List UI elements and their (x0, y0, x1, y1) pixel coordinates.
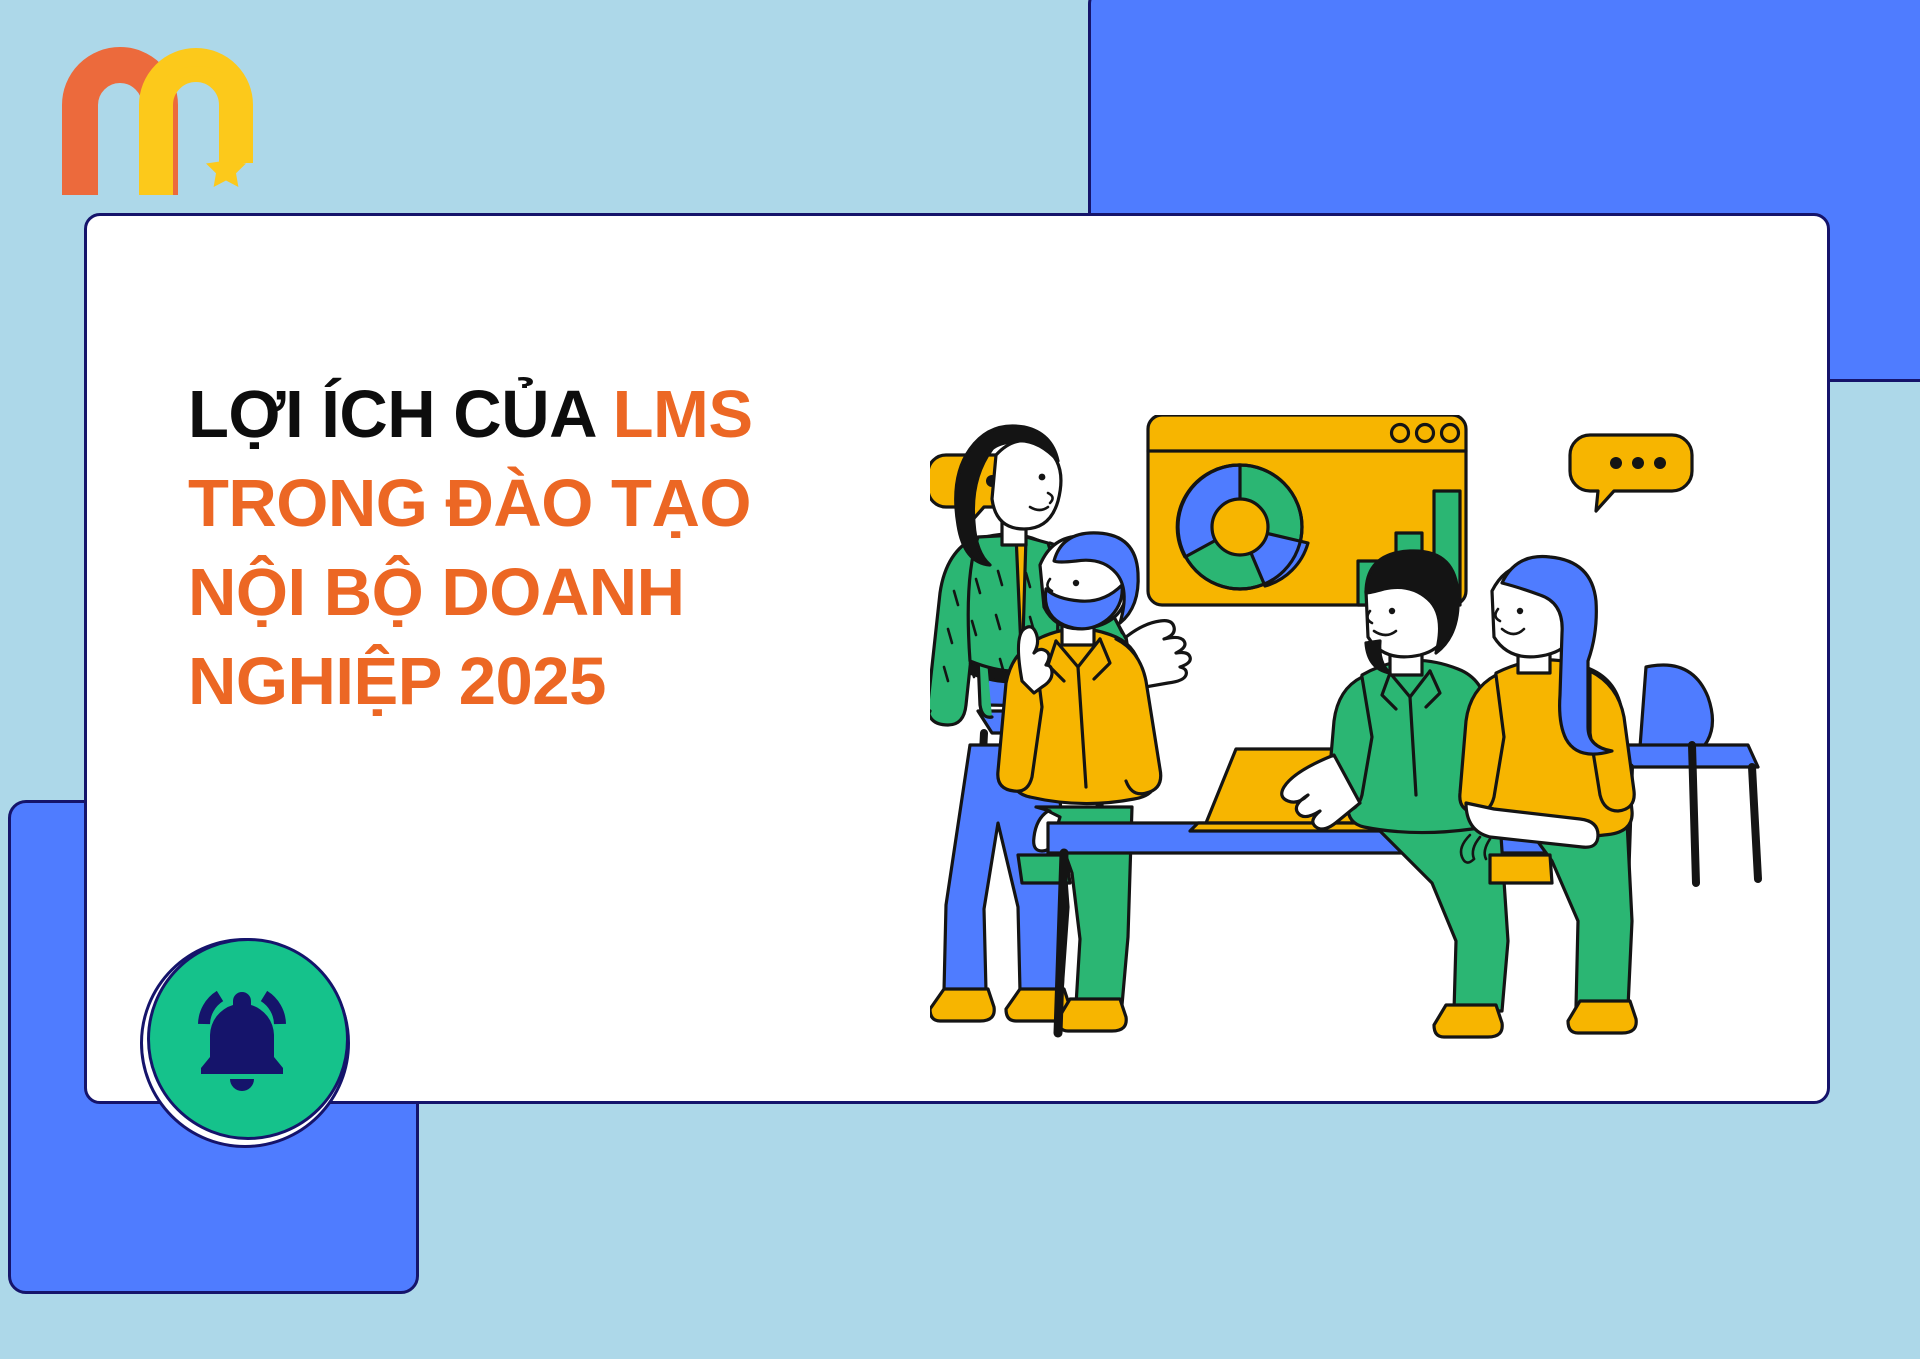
title-line-1: LỢI ÍCH CỦA LMS (188, 370, 928, 459)
team-meeting-illustration (930, 415, 1810, 1075)
chair-right (1620, 665, 1758, 885)
title-line-4: NGHIỆP 2025 (188, 637, 928, 726)
slide-canvas: LỢI ÍCH CỦA LMS TRONG ĐÀO TẠO NỘI BỘ DOA… (0, 0, 1920, 1359)
title-line-1-prefix: LỢI ÍCH CỦA (188, 377, 613, 452)
bell-icon (182, 978, 302, 1096)
page-title: LỢI ÍCH CỦA LMS TRONG ĐÀO TẠO NỘI BỘ DOA… (188, 370, 928, 726)
title-line-1-highlight: LMS (613, 377, 753, 452)
notification-badge[interactable] (140, 938, 350, 1148)
title-line-2: TRONG ĐÀO TẠO (188, 459, 928, 548)
title-line-3: NỘI BỘ DOANH (188, 548, 928, 637)
brand-logo[interactable] (58, 45, 278, 195)
speech-bubble-right (1570, 435, 1692, 511)
